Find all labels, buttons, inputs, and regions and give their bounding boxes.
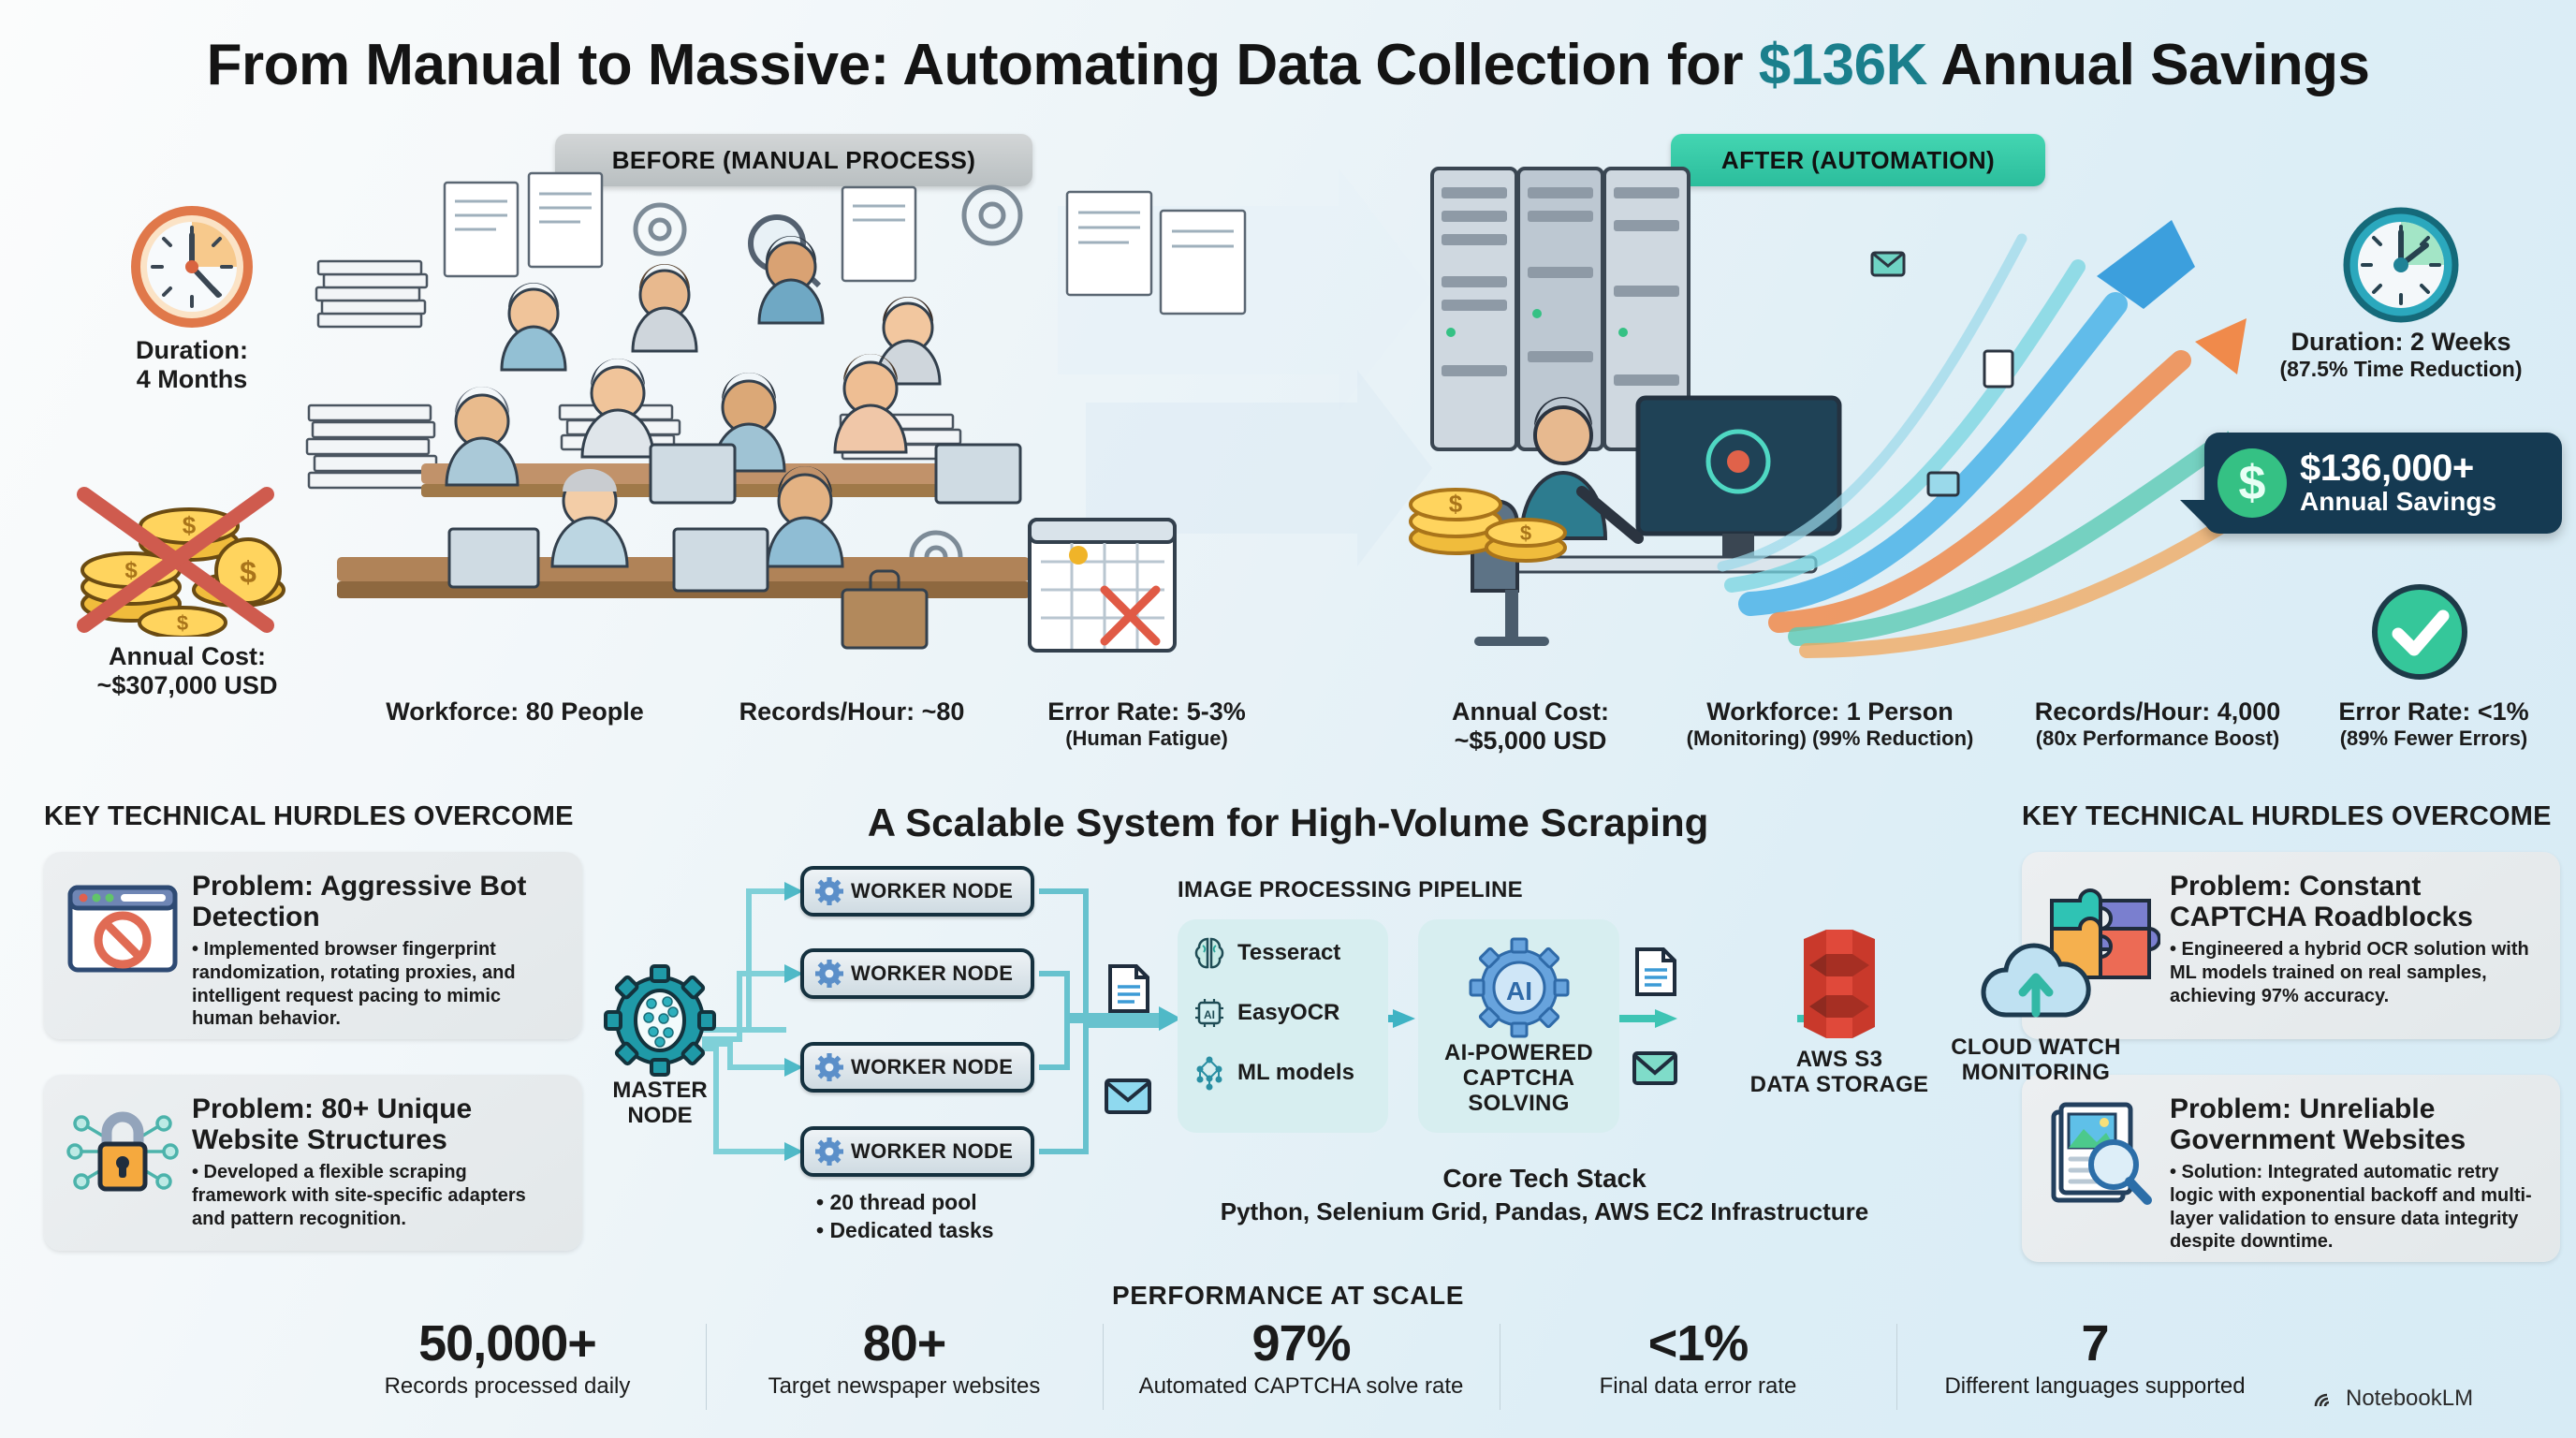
chip-ai-icon: AI: [1191, 994, 1228, 1032]
master-node-label-2: NODE: [576, 1104, 744, 1129]
master-node-label-1: MASTER: [576, 1078, 744, 1104]
hurdle-card-gov-websites: Problem: Unreliable Government Websites …: [2022, 1075, 2560, 1262]
annual-savings-callout: $ $136,000+ Annual Savings: [2204, 433, 2562, 534]
image-processing-pipeline-box: Tesseract AI EasyOCR ML models: [1178, 919, 1388, 1133]
pipeline-title: IMAGE PROCESSING PIPELINE: [1178, 878, 1589, 903]
hurdle-title: Problem: 80+ Unique Website Structures: [192, 1093, 563, 1155]
svg-text:$: $: [183, 511, 197, 539]
worker-node-3[interactable]: WORKER NODE: [800, 1042, 1034, 1093]
tech-stack-text: Python, Selenium Grid, Pandas, AWS EC2 I…: [1076, 1197, 2012, 1226]
ai-gear-icon: AI: [1468, 936, 1571, 1039]
performance-title: PERFORMANCE AT SCALE: [0, 1281, 2576, 1311]
svg-text:$: $: [1520, 521, 1531, 545]
pipeline-item-ml-models: ML models: [1191, 1054, 1375, 1092]
hurdle-card-bot-detection: Problem: Aggressive Bot Detection • Impl…: [44, 852, 582, 1039]
worker-node-4[interactable]: WORKER NODE: [800, 1126, 1034, 1177]
hurdle-title: Problem: Aggressive Bot Detection: [192, 871, 563, 932]
after-duration-stat: Duration: 2 Weeks (87.5% Time Reduction): [2247, 204, 2555, 381]
svg-text:AI: AI: [1506, 976, 1532, 1005]
master-node[interactable]: MASTER NODE: [576, 964, 744, 1129]
before-metric-error: Error Rate: 5-3% (Human Fatigue): [978, 697, 1315, 751]
svg-text:$: $: [240, 555, 256, 589]
before-duration-line2: 4 Months: [70, 365, 314, 394]
perf-cell-records: 50,000+ Records processed daily: [309, 1318, 706, 1400]
svg-text:$: $: [177, 611, 188, 635]
automation-illustration: $ $: [1404, 164, 2247, 697]
hurdle-card-website-structures: Problem: 80+ Unique Website Structures •…: [44, 1075, 582, 1251]
before-metric-workforce: Workforce: 80 People: [337, 697, 693, 726]
core-tech-stack: Core Tech Stack Python, Selenium Grid, P…: [1076, 1164, 2012, 1226]
worker-bullet-2: • Dedicated tasks: [816, 1217, 994, 1245]
aws-s3-icon: [1785, 922, 1894, 1044]
page-title: From Manual to Massive: Automating Data …: [0, 32, 2576, 98]
clock-icon: [2340, 204, 2462, 326]
pipeline-label: ML models: [1237, 1061, 1354, 1085]
performance-stats-row: 50,000+ Records processed daily 80+ Targ…: [309, 1318, 2293, 1421]
svg-text:AI: AI: [1204, 1008, 1215, 1021]
notebooklm-logo-icon: [2312, 1387, 2338, 1410]
coins-crossed-out-icon: $ $ $ $: [66, 449, 309, 637]
hurdle-title: Problem: Unreliable Government Websites: [2170, 1093, 2541, 1155]
savings-sub: Annual Savings: [2300, 488, 2496, 517]
hurdle-title: Problem: Constant CAPTCHA Roadblocks: [2170, 871, 2541, 932]
savings-amount: $136,000+: [2300, 449, 2496, 488]
hurdle-text: • Implemented browser fingerprint random…: [192, 938, 563, 1031]
captcha-caption: AI-POWERED CAPTCHA SOLVING: [1418, 1041, 1619, 1117]
master-gear-icon: [604, 964, 716, 1077]
after-metric-workforce: Workforce: 1 Person (Monitoring) (99% Re…: [1643, 697, 2017, 751]
worker-node-label: WORKER NODE: [851, 1139, 1013, 1164]
captcha-solving-box: AI AI-POWERED CAPTCHA SOLVING: [1418, 919, 1619, 1133]
aws-s3-storage: AWS S3 DATA STORAGE: [1736, 922, 1942, 1098]
after-metric-cost: Annual Cost: ~$5,000 USD: [1376, 697, 1685, 756]
tech-stack-title: Core Tech Stack: [1076, 1164, 2012, 1194]
title-accent: $136K: [1759, 33, 1927, 97]
gear-icon: [815, 960, 843, 988]
perf-cell-websites: 80+ Target newspaper websites: [706, 1318, 1103, 1400]
title-pre: From Manual to Massive: Automating Data …: [207, 33, 1759, 97]
cloud-upload-icon: [1972, 936, 2100, 1034]
title-post: Annual Savings: [1927, 33, 2370, 97]
worker-bullet-1: • 20 thread pool: [816, 1189, 994, 1217]
email-icon: [1103, 1075, 1153, 1116]
hurdle-text: • Developed a flexible scraping framewor…: [192, 1161, 563, 1230]
dollar-circle-icon: $: [2217, 448, 2287, 518]
worker-node-label: WORKER NODE: [851, 879, 1013, 903]
cloudwatch-caption: CLOUD WATCH MONITORING: [1924, 1035, 2148, 1086]
notebooklm-brand: NotebookLM: [2346, 1386, 2473, 1412]
perf-cell-captcha: 97% Automated CAPTCHA solve rate: [1103, 1318, 1500, 1400]
worker-node-1[interactable]: WORKER NODE: [800, 866, 1034, 917]
cloudwatch-monitoring: CLOUD WATCH MONITORING: [1924, 936, 2148, 1086]
pipeline-item-tesseract: Tesseract: [1191, 934, 1375, 972]
perf-cell-languages: 7 Different languages supported: [1896, 1318, 2293, 1400]
before-cost-line2: ~$307,000 USD: [33, 671, 342, 700]
gear-icon: [815, 1137, 843, 1166]
perf-cell-error: <1% Final data error rate: [1500, 1318, 1896, 1400]
worker-node-2[interactable]: WORKER NODE: [800, 948, 1034, 999]
before-cost-stat: $ $ $ $ Annual Cost: ~$307,000 USD: [33, 449, 342, 700]
padlock-network-icon: [63, 1097, 183, 1208]
svg-text:$: $: [1449, 490, 1463, 518]
worker-node-label: WORKER NODE: [851, 1055, 1013, 1079]
manual-process-illustration: [281, 164, 1329, 697]
after-metric-error: Error Rate: <1% (89% Fewer Errors): [2293, 697, 2574, 751]
brain-icon: [1191, 934, 1228, 972]
notebooklm-footer: NotebookLM: [2312, 1386, 2473, 1412]
before-metric-records: Records/Hour: ~80: [683, 697, 1020, 726]
worker-bullets: • 20 thread pool • Dedicated tasks: [816, 1189, 994, 1245]
clock-icon: [126, 201, 257, 332]
before-duration-stat: Duration: 4 Months: [70, 201, 314, 394]
aws-s3-caption: AWS S3 DATA STORAGE: [1736, 1048, 1942, 1098]
neural-network-icon: [1191, 1054, 1228, 1092]
document-icon: [1106, 962, 1151, 1015]
browser-blocked-icon: [63, 874, 183, 985]
email-icon: [1631, 1049, 1679, 1088]
check-circle-icon: [2368, 580, 2471, 683]
architecture-title: A Scalable System for High-Volume Scrapi…: [0, 800, 2576, 845]
pipeline-item-easyocr: AI EasyOCR: [1191, 994, 1375, 1032]
before-cost-line1: Annual Cost:: [33, 642, 342, 671]
after-duration-line2: (87.5% Time Reduction): [2247, 357, 2555, 381]
hurdle-text: • Solution: Integrated automatic retry l…: [2170, 1161, 2541, 1254]
document-icon: [1633, 946, 1678, 998]
after-metric-records: Records/Hour: 4,000 (80x Performance Boo…: [1975, 697, 2340, 751]
after-duration-line1: Duration: 2 Weeks: [2247, 328, 2555, 357]
gear-icon: [815, 877, 843, 905]
pipeline-label: EasyOCR: [1237, 1000, 1339, 1026]
before-duration-line1: Duration:: [70, 336, 314, 365]
callout-tail: [2180, 500, 2208, 528]
pipeline-label: Tesseract: [1237, 940, 1340, 966]
gear-icon: [815, 1053, 843, 1081]
worker-node-label: WORKER NODE: [851, 961, 1013, 986]
hurdle-text: • Engineered a hybrid OCR solution with …: [2170, 938, 2541, 1007]
